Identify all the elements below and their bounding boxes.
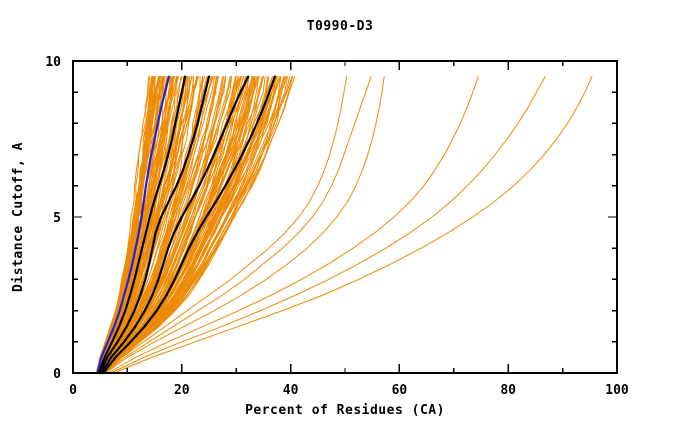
chart-title: T0990-D3 bbox=[307, 19, 374, 34]
ensemble-curves-layer bbox=[96, 77, 592, 373]
x-tick-label: 20 bbox=[174, 383, 190, 398]
x-tick-label: 40 bbox=[283, 383, 299, 398]
plot-root: T0990-D3 0204060801000510 Percent of Res… bbox=[0, 0, 680, 440]
x-tick-label: 80 bbox=[500, 383, 516, 398]
x-tick-label: 100 bbox=[605, 383, 629, 398]
x-axis-label: Percent of Residues (CA) bbox=[245, 403, 445, 418]
y-tick-label: 5 bbox=[53, 211, 61, 226]
x-tick-label: 0 bbox=[69, 383, 77, 398]
x-tick-label: 60 bbox=[392, 383, 408, 398]
y-tick-label: 10 bbox=[45, 55, 61, 70]
y-axis-label: Distance Cutoff, A bbox=[11, 142, 26, 292]
chart-figure: T0990-D3 0204060801000510 Percent of Res… bbox=[0, 0, 680, 440]
y-tick-label: 0 bbox=[53, 367, 61, 382]
